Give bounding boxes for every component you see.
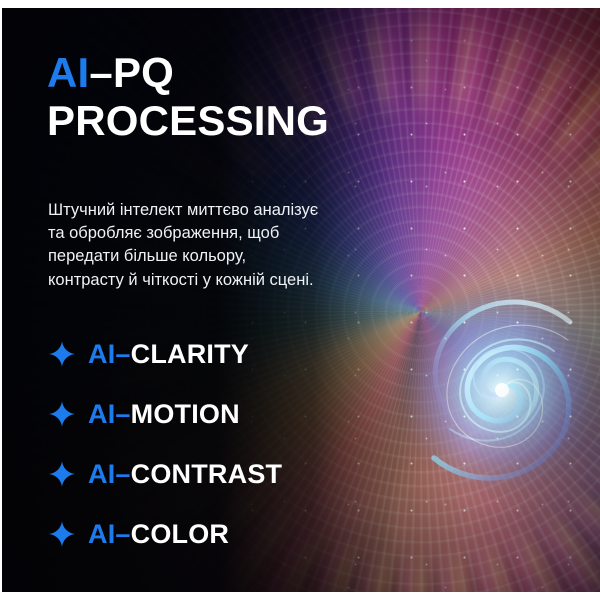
- content-overlay: AI–PQ PROCESSING Штучний інтелект миттєв…: [2, 8, 600, 592]
- feature-item-motion: AI–MOTION: [49, 384, 349, 444]
- feature-prefix-color: AI–: [88, 519, 131, 549]
- feature-item-contrast: AI–CONTRAST: [49, 444, 349, 504]
- feature-name-contrast: CONTRAST: [131, 459, 283, 489]
- sparkle-icon: [49, 341, 75, 367]
- feature-name-motion: MOTION: [131, 399, 240, 429]
- feature-name-color: COLOR: [131, 519, 230, 549]
- feature-label-clarity: AI–CLARITY: [88, 339, 249, 370]
- description-text: Штучний інтелект миттєво аналізує та обр…: [48, 199, 326, 293]
- ai-pq-processing-promo-card: AI–PQ PROCESSING Штучний інтелект миттєв…: [0, 0, 600, 600]
- feature-item-clarity: AI–CLARITY: [49, 324, 349, 384]
- headline-line-1-rest: –PQ: [89, 49, 174, 96]
- feature-prefix-motion: AI–: [88, 399, 131, 429]
- feature-label-motion: AI–MOTION: [88, 399, 240, 430]
- feature-item-color: AI–COLOR: [49, 504, 349, 564]
- feature-label-contrast: AI–CONTRAST: [88, 459, 282, 490]
- page-title: AI–PQ PROCESSING: [47, 52, 329, 142]
- sparkle-icon: [49, 521, 75, 547]
- sparkle-icon: [49, 401, 75, 427]
- sparkle-icon: [49, 461, 75, 487]
- feature-label-color: AI–COLOR: [88, 519, 229, 550]
- feature-list: AI–CLARITY AI–MOTION AI–CONTRAST: [49, 324, 349, 564]
- headline-line-2: PROCESSING: [47, 100, 329, 142]
- feature-name-clarity: CLARITY: [131, 339, 249, 369]
- headline-line-1: AI–PQ: [47, 52, 329, 94]
- feature-prefix-contrast: AI–: [88, 459, 131, 489]
- feature-prefix-clarity: AI–: [88, 339, 131, 369]
- artwork-panel: AI–PQ PROCESSING Штучний інтелект миттєв…: [2, 8, 600, 592]
- headline-accent-ai: AI: [47, 49, 89, 96]
